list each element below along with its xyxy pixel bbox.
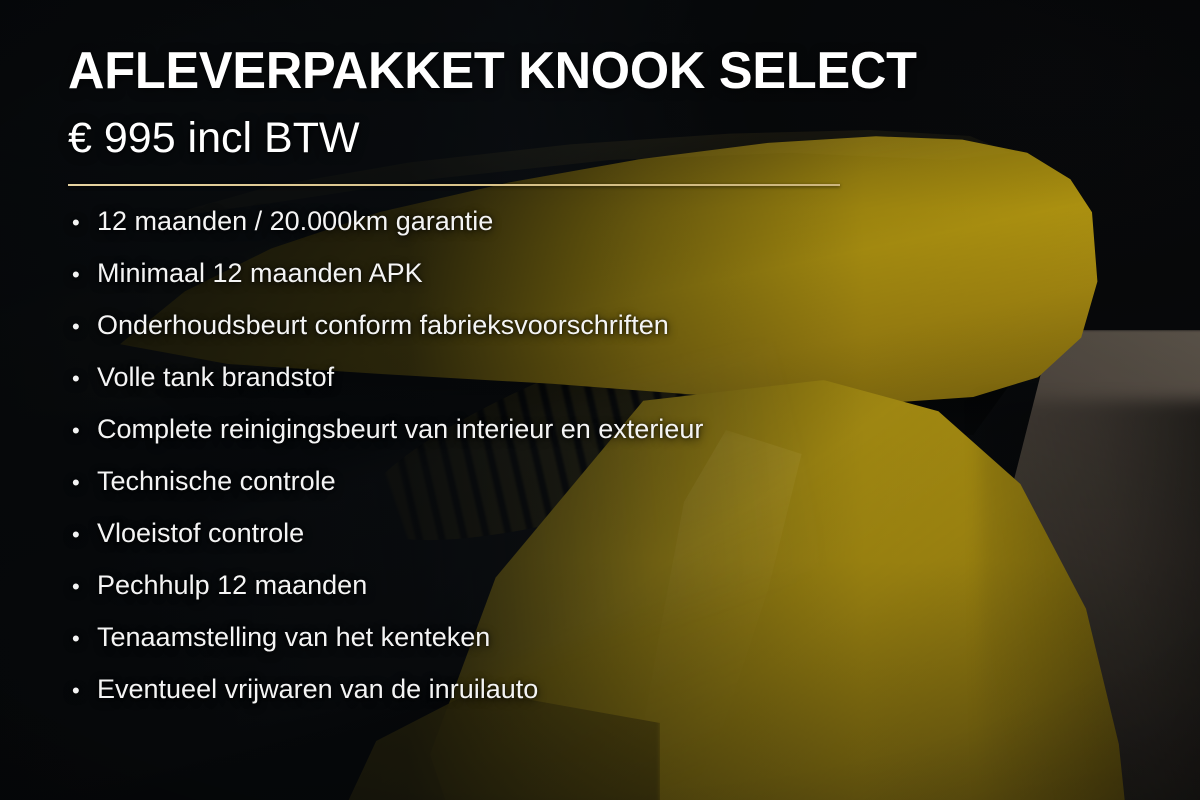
- promo-slide: AFLEVERPAKKET KNOOK SELECT € 995 incl BT…: [0, 0, 1200, 800]
- price-subtitle: € 995 incl BTW: [68, 115, 1078, 161]
- list-item: • Onderhoudsbeurt conform fabrieksvoorsc…: [68, 310, 1078, 362]
- bullet-icon: •: [68, 420, 97, 442]
- list-item: • 12 maanden / 20.000km garantie: [68, 206, 1078, 258]
- list-item-label: Onderhoudsbeurt conform fabrieksvoorschr…: [97, 310, 1078, 341]
- content-block: AFLEVERPAKKET KNOOK SELECT € 995 incl BT…: [68, 44, 1078, 726]
- list-item: • Tenaamstelling van het kenteken: [68, 622, 1078, 674]
- list-item-label: Vloeistof controle: [97, 518, 1078, 549]
- list-item: • Minimaal 12 maanden APK: [68, 258, 1078, 310]
- list-item-label: Technische controle: [97, 466, 1078, 497]
- page-title: AFLEVERPAKKET KNOOK SELECT: [68, 44, 1048, 99]
- list-item-label: Tenaamstelling van het kenteken: [97, 622, 1078, 653]
- features-list: • 12 maanden / 20.000km garantie • Minim…: [68, 206, 1078, 726]
- list-item-label: Eventueel vrijwaren van de inruilauto: [97, 674, 1078, 705]
- list-item-label: Pechhulp 12 maanden: [97, 570, 1078, 601]
- bullet-icon: •: [68, 524, 97, 546]
- list-item: • Volle tank brandstof: [68, 362, 1078, 414]
- list-item-label: 12 maanden / 20.000km garantie: [97, 206, 1078, 237]
- bullet-icon: •: [68, 472, 97, 494]
- list-item: • Vloeistof controle: [68, 518, 1078, 570]
- bullet-icon: •: [68, 628, 97, 650]
- bullet-icon: •: [68, 212, 97, 234]
- bullet-icon: •: [68, 316, 97, 338]
- list-item-label: Volle tank brandstof: [97, 362, 1078, 393]
- bullet-icon: •: [68, 680, 97, 702]
- list-item: • Eventueel vrijwaren van de inruilauto: [68, 674, 1078, 726]
- gold-divider: [68, 184, 840, 186]
- list-item: • Pechhulp 12 maanden: [68, 570, 1078, 622]
- list-item-label: Minimaal 12 maanden APK: [97, 258, 1078, 289]
- list-item: • Technische controle: [68, 466, 1078, 518]
- bullet-icon: •: [68, 368, 97, 390]
- bullet-icon: •: [68, 576, 97, 598]
- list-item-label: Complete reinigingsbeurt van interieur e…: [97, 414, 1078, 445]
- list-item: • Complete reinigingsbeurt van interieur…: [68, 414, 1078, 466]
- bullet-icon: •: [68, 264, 97, 286]
